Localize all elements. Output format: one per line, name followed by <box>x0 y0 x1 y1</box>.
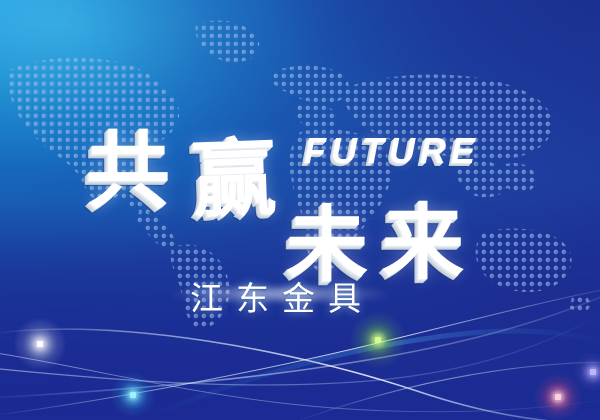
headline-char-lai: 来 <box>382 176 464 295</box>
headline-char-gong: 共 <box>86 104 170 225</box>
headline-char-ying: 赢 <box>190 111 278 235</box>
spark-white-left-core <box>37 341 43 347</box>
headline-future: FUTURE <box>304 130 480 172</box>
spark-violet-right-core <box>590 369 596 375</box>
spark-white-left <box>13 317 67 371</box>
banner-canvas: 共 赢 FUTURE 未 来 江东金具 <box>0 0 600 420</box>
brand-name: 江东金具 <box>190 272 374 320</box>
spark-green-mid-core <box>375 337 381 343</box>
spark-cyan-mid-core <box>130 392 136 398</box>
spark-cyan-mid <box>110 372 156 418</box>
spark-pink-right-core <box>555 394 561 400</box>
